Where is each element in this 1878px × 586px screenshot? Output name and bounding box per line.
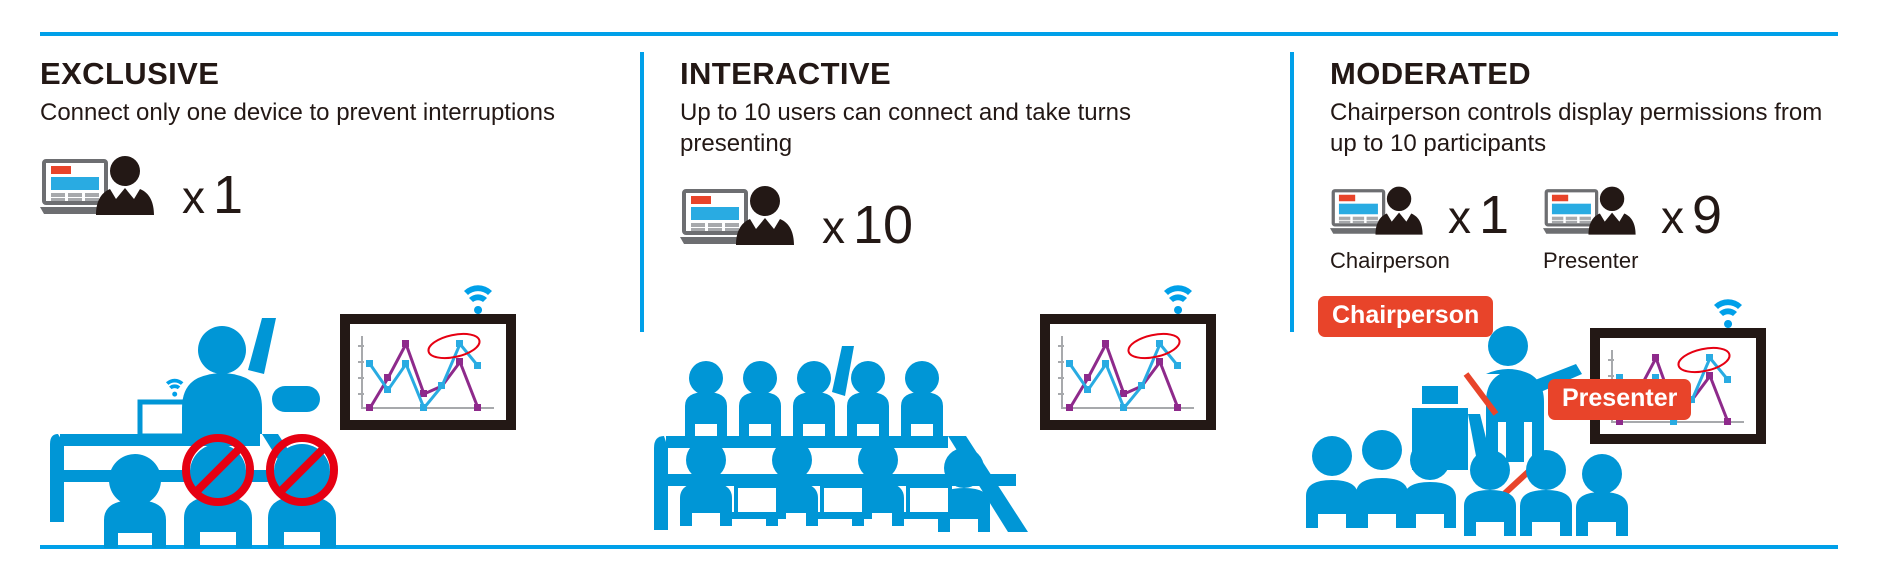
infographic-page: EXCLUSIVE Connect only one device to pre… [0,0,1878,586]
badge-presenter[interactable]: Presenter [1548,379,1691,420]
laptop-person-icon [1330,185,1434,242]
laptop-person-icon [680,185,808,252]
top-rule [40,32,1838,36]
counter-chairperson: x1 Chairperson [1330,185,1509,274]
counter-row: x1 [40,155,640,222]
presenter-figure [182,318,276,434]
panel-container: EXCLUSIVE Connect only one device to pre… [40,44,1838,542]
display-screen-icon [340,314,516,430]
counter-value: 10 [853,195,913,255]
panel-exclusive: EXCLUSIVE Connect only one device to pre… [40,44,640,542]
panel-title: MODERATED [1330,56,1838,92]
counter-multiplier: x9 [1661,188,1722,242]
panel-moderated: MODERATED Chairperson controls display p… [1290,44,1838,542]
counter-value: 9 [1692,185,1722,245]
counter-multiplier: x1 [182,168,243,222]
panel-title: INTERACTIVE [680,56,1290,92]
counter-multiplier: x1 [1448,188,1509,242]
panel-title: EXCLUSIVE [40,56,640,92]
badge-chairperson[interactable]: Chairperson [1318,296,1493,337]
counter-caption: Presenter [1543,248,1638,274]
panel-subtitle: Up to 10 users can connect and take turn… [680,98,1200,159]
laptop-person-icon [1543,185,1647,242]
counter-multiplier: x10 [822,198,913,252]
scene-exclusive [40,274,640,554]
counter-exclusive: x1 [40,155,243,222]
laptop-person-icon [40,155,168,222]
counter-caption: Chairperson [1330,248,1450,274]
panel-interactive: INTERACTIVE Up to 10 users can connect a… [640,44,1290,542]
wifi-icon-small [166,379,183,397]
wifi-icon [1164,285,1192,314]
seat-figure [272,386,320,412]
counter-interactive: x10 [680,185,913,252]
display-screen-icon [1040,314,1216,430]
wifi-icon [1714,299,1742,328]
audience-back-row [685,346,943,436]
audience-front [104,444,336,548]
laptop-icons-row [730,486,958,519]
counter-value: 1 [213,165,243,225]
counter-presenter: x9 Presenter [1543,185,1722,274]
scene-interactive [640,274,1290,554]
counter-row: x1 Chairperson [1330,185,1838,274]
panel-subtitle: Chairperson controls display permissions… [1330,98,1830,159]
wifi-icon [464,285,492,314]
counter-row: x10 [680,185,1290,252]
panel-subtitle: Connect only one device to prevent inter… [40,98,560,129]
counter-value: 1 [1479,185,1509,245]
